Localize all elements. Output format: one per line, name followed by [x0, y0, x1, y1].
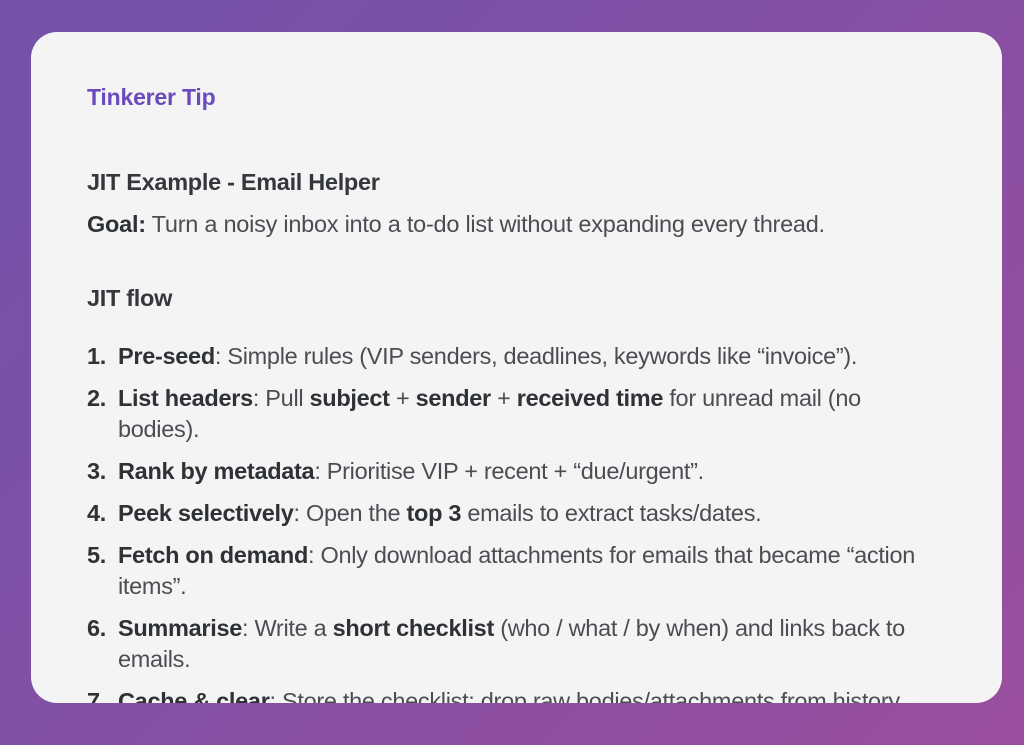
- flow-step-body: : Prioritise VIP + recent + “due/urgent”…: [314, 458, 704, 484]
- flow-step-number: 5.: [87, 540, 106, 571]
- flow-step-body: : Open the: [294, 500, 407, 526]
- flow-step-number: 3.: [87, 456, 106, 487]
- goal-text: Turn a noisy inbox into a to-do list wit…: [146, 211, 825, 237]
- flow-step: 6.Summarise: Write a short checklist (wh…: [87, 613, 946, 675]
- flow-step-body: : Simple rules (VIP senders, deadlines, …: [215, 343, 857, 369]
- flow-step: 2.List headers: Pull subject + sender + …: [87, 383, 946, 445]
- flow-step: 1.Pre-seed: Simple rules (VIP senders, d…: [87, 341, 946, 372]
- flow-step-number: 2.: [87, 383, 106, 414]
- flow-step-separator: +: [390, 385, 416, 411]
- flow-step-emphasis: received time: [517, 385, 663, 411]
- jit-flow-list: 1.Pre-seed: Simple rules (VIP senders, d…: [87, 341, 946, 703]
- flow-step-lead: Fetch on demand: [118, 542, 308, 568]
- tip-card: Tinkerer Tip JIT Example - Email Helper …: [31, 32, 1002, 703]
- flow-step-emphasis: sender: [416, 385, 491, 411]
- goal-line: Goal: Turn a noisy inbox into a to-do li…: [87, 209, 946, 240]
- flow-step: 7.Cache & clear: Store the checklist; dr…: [87, 686, 946, 703]
- flow-step-body-tail: emails to extract tasks/dates.: [461, 500, 761, 526]
- flow-step: 3.Rank by metadata: Prioritise VIP + rec…: [87, 456, 946, 487]
- flow-step-lead: Summarise: [118, 615, 242, 641]
- flow-step-lead: List headers: [118, 385, 253, 411]
- flow-step-emphasis: subject: [310, 385, 390, 411]
- flow-step-body: : Store the checklist; drop raw bodies/a…: [270, 688, 905, 703]
- goal-label: Goal:: [87, 211, 146, 237]
- flow-step-body: : Pull: [253, 385, 310, 411]
- flow-step: 4.Peek selectively: Open the top 3 email…: [87, 498, 946, 529]
- flow-step-number: 6.: [87, 613, 106, 644]
- flow-step-emphasis: top 3: [407, 500, 462, 526]
- flow-step-lead: Pre-seed: [118, 343, 215, 369]
- flow-step-lead: Cache & clear: [118, 688, 270, 703]
- card-kicker: Tinkerer Tip: [87, 84, 946, 112]
- flow-step-body: : Write a: [242, 615, 333, 641]
- flow-step-lead: Rank by metadata: [118, 458, 314, 484]
- flow-step-number: 1.: [87, 341, 106, 372]
- slide-background: Tinkerer Tip JIT Example - Email Helper …: [0, 0, 1024, 745]
- flow-heading: JIT flow: [87, 284, 946, 313]
- flow-step-number: 7.: [87, 686, 106, 703]
- flow-step-number: 4.: [87, 498, 106, 529]
- flow-step-emphasis: short checklist: [333, 615, 494, 641]
- flow-step: 5.Fetch on demand: Only download attachm…: [87, 540, 946, 602]
- flow-step-lead: Peek selectively: [118, 500, 294, 526]
- section-title: JIT Example - Email Helper: [87, 168, 946, 197]
- flow-step-separator: +: [491, 385, 517, 411]
